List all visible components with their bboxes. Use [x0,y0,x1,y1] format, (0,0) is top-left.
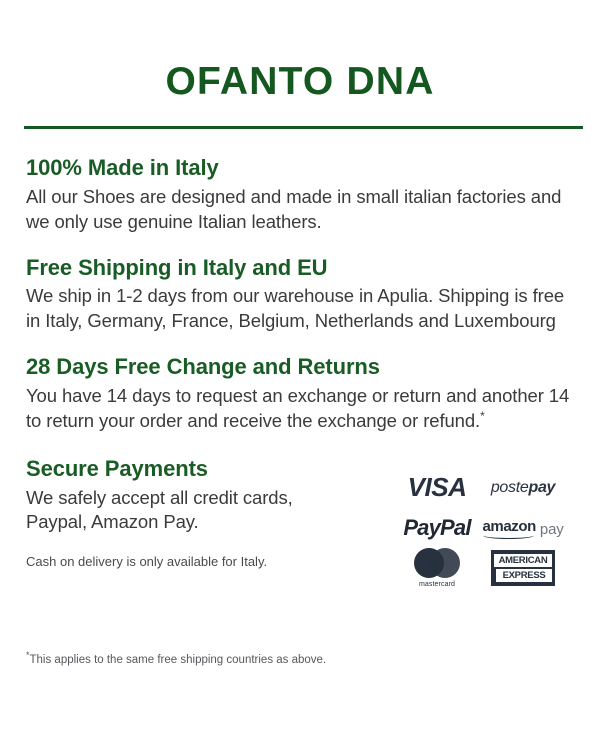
mastercard-circle-right [430,548,460,578]
payments-row: Secure Payments We safely accept all cre… [26,456,574,588]
ofanto-dna-page: OFANTO DNA 100% Made in Italy All our Sh… [0,0,600,750]
mastercard-label: mastercard [419,581,455,588]
content-area: 100% Made in Italy All our Shoes are des… [26,155,574,602]
amex-line-1: AMERICAN [494,554,552,567]
section-body: We safely accept all credit cards, Paypa… [26,486,356,536]
cash-on-delivery-note: Cash on delivery is only available for I… [26,553,356,571]
payment-logo-row: mastercard AMERICAN EXPRESS [394,548,574,588]
paypal-icon: PayPal [403,515,470,541]
section-body: We ship in 1-2 days from our warehouse i… [26,284,574,334]
paypal-logo-cell: PayPal [394,508,480,548]
visa-icon: VISA [408,472,467,503]
postepay-bold-text: pay [528,479,555,496]
postepay-icon: postepay [491,479,555,497]
mastercard-icon: mastercard [414,548,460,588]
page-title: OFANTO DNA [0,0,600,103]
postepay-light-text: poste [491,479,529,496]
footnote: *This applies to the same free shipping … [26,652,326,668]
footnote-text: This applies to the same free shipping c… [30,654,327,666]
postepay-logo-cell: postepay [480,468,566,508]
title-divider [24,126,583,129]
visa-logo-cell: VISA [394,468,480,508]
amazon-pay-logo-cell: amazonpay [480,508,566,548]
amazon-pay-text: pay [540,521,564,538]
section-body-text: You have 14 days to request an exchange … [26,385,569,431]
section-body: You have 14 days to request an exchange … [26,384,574,434]
payment-logo-row: VISA postepay [394,468,574,508]
section-free-shipping: Free Shipping in Italy and EU We ship in… [26,255,574,335]
payments-text-block: Secure Payments We safely accept all cre… [26,456,356,572]
section-heading: Secure Payments [26,456,356,482]
section-body: All our Shoes are designed and made in s… [26,185,574,235]
amex-line-2: EXPRESS [496,569,552,582]
payment-logo-grid: VISA postepay PayPal amazonpay [394,468,574,588]
returns-asterisk: * [480,409,485,423]
amazon-smile-icon [483,532,533,539]
section-heading: Free Shipping in Italy and EU [26,255,574,281]
payment-logo-row: PayPal amazonpay [394,508,574,548]
amazon-pay-icon: amazonpay [482,518,563,538]
american-express-icon: AMERICAN EXPRESS [491,550,555,586]
section-returns: 28 Days Free Change and Returns You have… [26,354,574,434]
amazon-wordmark: amazon [482,518,535,538]
section-heading: 28 Days Free Change and Returns [26,354,574,380]
section-secure-payments: Secure Payments We safely accept all cre… [26,456,574,588]
mastercard-logo-cell: mastercard [394,548,480,588]
section-heading: 100% Made in Italy [26,155,574,181]
mastercard-circles-icon [414,548,460,578]
amex-logo-cell: AMERICAN EXPRESS [480,548,566,588]
section-made-in-italy: 100% Made in Italy All our Shoes are des… [26,155,574,235]
